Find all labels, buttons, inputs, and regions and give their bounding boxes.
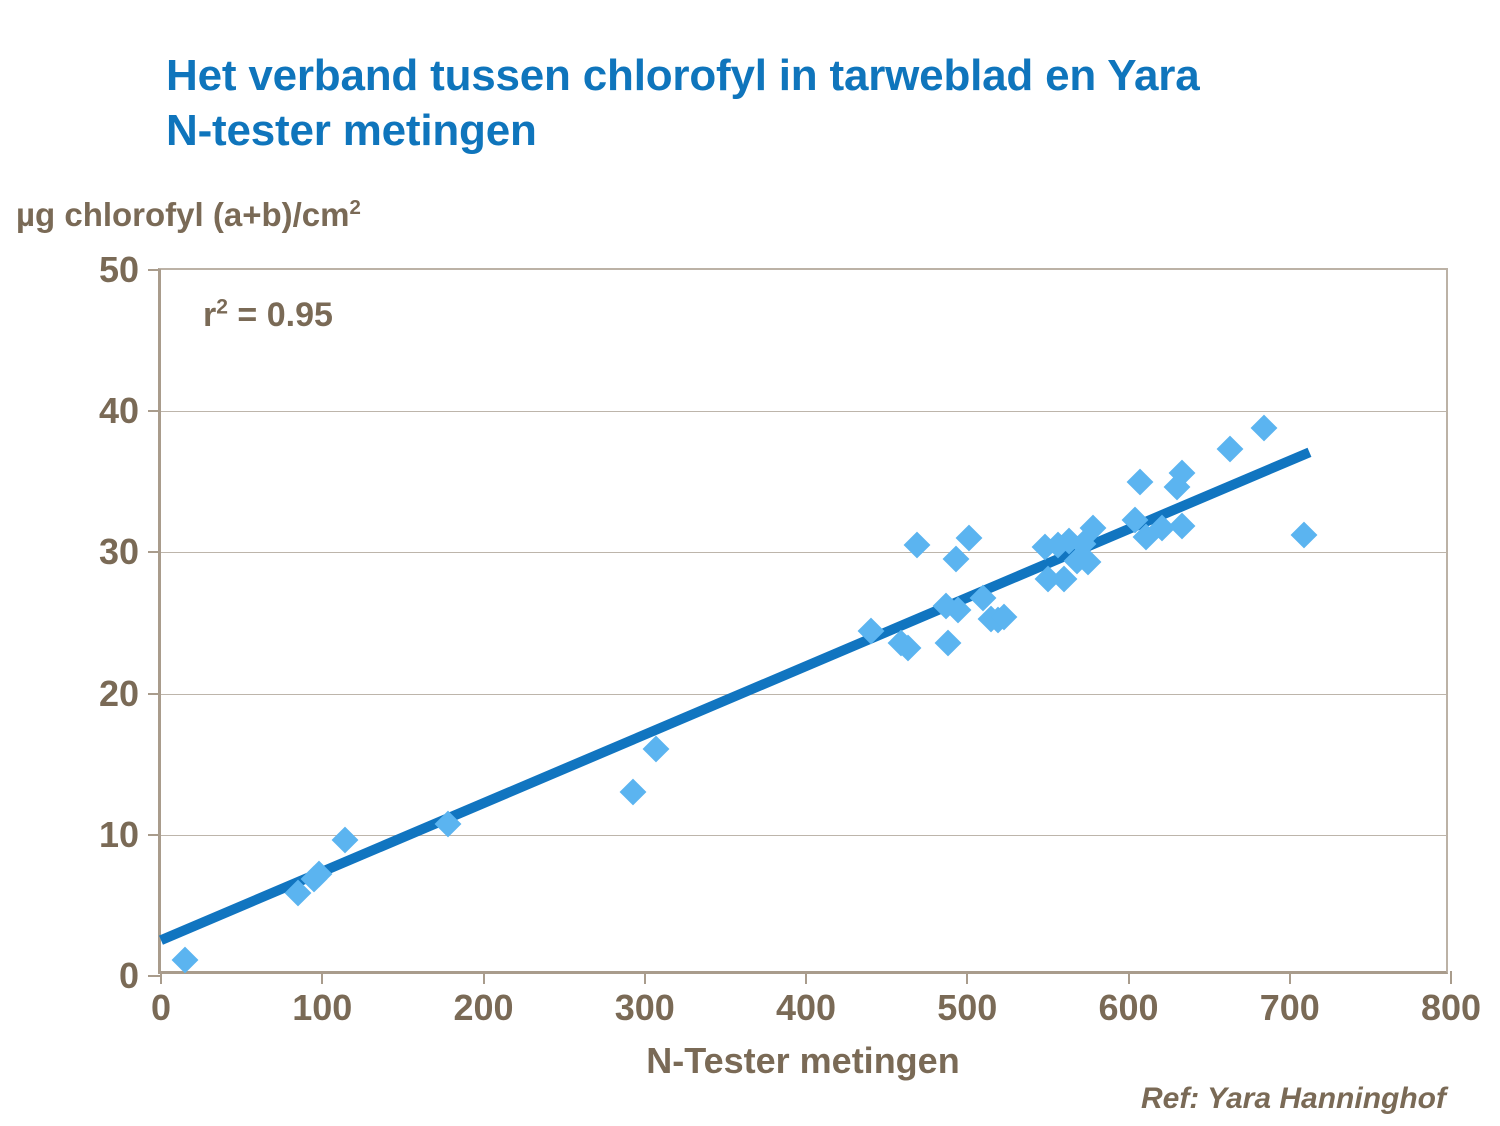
- y-tick-mark-50: [148, 269, 161, 271]
- r-squared-superscript: 2: [216, 296, 228, 319]
- y-tick-mark-30: [148, 551, 161, 553]
- y-tick-label-30: 30: [99, 531, 139, 573]
- x-tick-label-200: 200: [453, 987, 513, 1029]
- gridline-y-30: [161, 552, 1446, 553]
- r-squared-prefix: r: [203, 296, 216, 334]
- scatter-point: [904, 532, 931, 559]
- x-axis-title: N-Tester metingen: [158, 1040, 1448, 1082]
- scatter-point: [1168, 512, 1195, 539]
- scatter-point: [643, 735, 670, 762]
- x-tick-label-300: 300: [615, 987, 675, 1029]
- x-tick-label-500: 500: [937, 987, 997, 1029]
- y-tick-label-50: 50: [99, 249, 139, 291]
- x-tick-label-600: 600: [1098, 987, 1158, 1029]
- x-tick-mark-300: [644, 971, 646, 984]
- scatter-point: [435, 810, 462, 837]
- scatter-point: [1251, 415, 1278, 442]
- y-tick-label-0: 0: [119, 955, 139, 997]
- x-tick-mark-700: [1289, 971, 1291, 984]
- scatter-point: [172, 947, 199, 974]
- plot-area: r2 = 0.95 01020304050 010020030040050060…: [158, 268, 1448, 974]
- x-tick-label-0: 0: [151, 987, 171, 1029]
- trendline-layer: [161, 270, 1446, 971]
- x-tick-label-100: 100: [292, 987, 352, 1029]
- r-squared-annotation: r2 = 0.95: [203, 296, 333, 335]
- slide-canvas: Het verband tussen chlorofyl in tarwebla…: [0, 0, 1500, 1126]
- y-tick-mark-40: [148, 410, 161, 412]
- page-title: Het verband tussen chlorofyl in tarwebla…: [166, 48, 1426, 158]
- x-tick-mark-400: [805, 971, 807, 984]
- x-tick-mark-600: [1128, 971, 1130, 984]
- scatter-point: [620, 779, 647, 806]
- y-tick-label-40: 40: [99, 390, 139, 432]
- reference-note: Ref: Yara Hanninghof: [1141, 1082, 1446, 1116]
- page-title-line-2: N-tester metingen: [166, 103, 1426, 158]
- page-title-line-1: Het verband tussen chlorofyl in tarwebla…: [166, 48, 1426, 103]
- y-axis-title-superscript: 2: [349, 196, 360, 219]
- scatter-point: [1291, 522, 1318, 549]
- scatter-point: [934, 629, 961, 656]
- y-axis-title-text: µg chlorofyl (a+b)/cm: [16, 196, 349, 233]
- scatter-point: [1217, 436, 1244, 463]
- y-axis-title: µg chlorofyl (a+b)/cm2: [16, 196, 361, 234]
- r-squared-value: = 0.95: [228, 296, 333, 334]
- x-tick-label-800: 800: [1421, 987, 1481, 1029]
- gridline-y-20: [161, 694, 1446, 695]
- x-tick-label-400: 400: [776, 987, 836, 1029]
- x-tick-mark-800: [1450, 971, 1452, 984]
- scatter-point: [857, 618, 884, 645]
- scatter-point: [331, 827, 358, 854]
- x-tick-mark-100: [321, 971, 323, 984]
- x-tick-mark-500: [966, 971, 968, 984]
- x-tick-label-700: 700: [1260, 987, 1320, 1029]
- y-tick-label-10: 10: [99, 814, 139, 856]
- y-tick-mark-20: [148, 693, 161, 695]
- scatter-point: [955, 525, 982, 552]
- scatter-point: [943, 546, 970, 573]
- x-tick-mark-0: [160, 971, 162, 984]
- y-tick-mark-10: [148, 834, 161, 836]
- scatter-point: [1126, 468, 1153, 495]
- gridline-y-40: [161, 411, 1446, 412]
- x-tick-mark-200: [483, 971, 485, 984]
- y-tick-label-20: 20: [99, 673, 139, 715]
